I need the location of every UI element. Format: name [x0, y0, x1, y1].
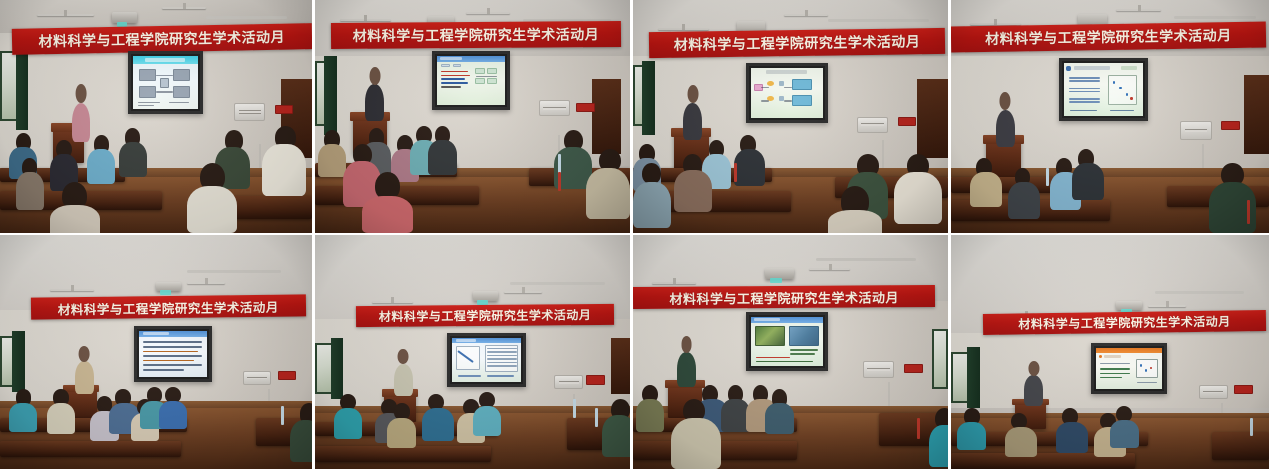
slide-content: [139, 331, 207, 377]
curtain: [12, 331, 24, 392]
audience-body: [47, 403, 75, 433]
speaker: [1024, 375, 1043, 405]
banner-text: 材料科学与工程学院研究生学术活动月: [58, 296, 279, 318]
banner-text: 材料科学与工程学院研究生学术活动月: [669, 287, 899, 308]
projector-icon: [156, 282, 181, 291]
projection-screen: [746, 312, 828, 371]
water-bottle: [1046, 168, 1049, 187]
air-conditioner: [234, 103, 265, 122]
door: [611, 338, 630, 394]
speaker: [75, 361, 94, 394]
water-bottle: [281, 406, 284, 425]
banner-text: 材料科学与工程学院研究生学术活动月: [1018, 313, 1231, 333]
air-conditioner: [243, 371, 271, 385]
projection-screen: [447, 333, 526, 387]
bench-row: [315, 446, 491, 462]
slide-content: [133, 56, 198, 109]
projection-screen: [1059, 58, 1148, 121]
exit-sign: [586, 375, 605, 384]
audience-body: [970, 172, 1002, 207]
air-conditioner: [1180, 121, 1212, 140]
audience-body: [1008, 182, 1040, 219]
exit-sign: [278, 371, 297, 380]
ceiling-pipe: [1174, 16, 1257, 19]
curtain: [324, 56, 337, 135]
curtain: [967, 347, 980, 408]
photo-8: 材料科学与工程学院研究生学术活动月: [951, 235, 1269, 469]
audience-body: [87, 149, 115, 184]
event-banner: 材料科学与工程学院研究生学术活动月: [31, 294, 306, 320]
audience-body: [586, 168, 630, 219]
water-bottle: [1247, 200, 1250, 223]
audience-body: [1072, 163, 1104, 200]
photo-6: 材料科学与工程学院研究生学术活动月: [315, 235, 633, 469]
audience-body: [387, 418, 415, 448]
ceiling-fan-icon: [187, 282, 224, 284]
exit-sign: [1221, 121, 1240, 130]
exit-sign: [898, 117, 917, 126]
ceiling-pipe: [187, 270, 281, 273]
ceiling-pipe: [828, 19, 929, 22]
audience-body: [674, 170, 712, 212]
event-banner: 材料科学与工程学院研究生学术活动月: [331, 21, 621, 49]
event-banner: 材料科学与工程学院研究生学术活动月: [633, 285, 935, 309]
ceiling-fan-icon: [809, 268, 850, 270]
photo-5: 材料科学与工程学院研究生学术活动月: [0, 235, 315, 469]
audience-body: [765, 403, 793, 433]
slide-content: [452, 338, 521, 382]
audience-body: [16, 172, 44, 209]
audience-body: [828, 210, 882, 235]
audience-body: [422, 408, 454, 441]
slide-content: [1096, 348, 1162, 389]
event-banner: 材料科学与工程学院研究生学术活动月: [356, 304, 614, 327]
water-bottle: [558, 172, 561, 191]
projection-screen: [128, 51, 203, 114]
door: [917, 79, 949, 158]
audience-body: [1056, 422, 1088, 452]
banner-text: 材料科学与工程学院研究生学术活动月: [985, 25, 1232, 49]
air-conditioner: [554, 375, 582, 389]
water-bottle: [595, 408, 598, 427]
water-bottle: [734, 163, 737, 182]
speaker: [72, 103, 91, 143]
ceiling-pipe: [206, 16, 287, 19]
projector-icon: [765, 268, 793, 280]
ceiling-fan-icon: [1116, 9, 1161, 11]
curtain: [16, 47, 28, 131]
ceiling-fan-icon: [466, 12, 510, 14]
photo-1: 材料科学与工程学院研究生学术活动月: [0, 0, 315, 235]
photo-7: 材料科学与工程学院研究生学术活动月: [633, 235, 951, 469]
air-conditioner: [1199, 385, 1228, 399]
banner-text: 材料科学与工程学院研究生学术活动月: [673, 31, 920, 54]
projection-screen: [134, 326, 212, 382]
ceiling-fan-icon: [658, 28, 708, 30]
audience-body: [428, 140, 456, 175]
audience-body: [334, 408, 362, 438]
photo-4: 材料科学与工程学院研究生学术活动月: [951, 0, 1269, 235]
speaker: [365, 84, 384, 121]
ceiling-fan-icon: [652, 282, 696, 284]
audience-body: [50, 205, 100, 235]
audience-body: [929, 425, 951, 467]
projection-screen: [1091, 343, 1167, 394]
audience-body: [9, 403, 37, 431]
exit-sign: [275, 105, 294, 114]
audience-body: [290, 420, 315, 462]
door: [1244, 75, 1269, 154]
audience-body: [633, 182, 671, 229]
projector-icon: [473, 291, 498, 300]
audience-body: [1005, 427, 1037, 457]
photo-2: 材料科学与工程学院研究生学术活动月: [315, 0, 633, 235]
speaker: [683, 103, 702, 140]
ceiling-fan-icon: [1148, 305, 1186, 307]
ceiling-fan-icon: [37, 14, 93, 16]
audience-body: [671, 418, 721, 469]
bench-row: [0, 441, 181, 457]
audience-body: [894, 172, 941, 223]
slide-content: [1064, 63, 1143, 116]
speaker: [996, 110, 1015, 147]
speaker: [677, 352, 696, 387]
window: [932, 329, 948, 390]
photo-3: 材料科学与工程学院研究生学术活动月: [633, 0, 951, 235]
air-conditioner: [539, 100, 571, 116]
ceiling-fan-icon: [340, 19, 390, 21]
audience-body: [362, 196, 412, 233]
audience-head: [642, 163, 661, 184]
ceiling-fan-icon: [784, 14, 828, 16]
audience-body: [721, 399, 749, 432]
audience-body: [119, 142, 147, 177]
water-bottle: [917, 418, 920, 439]
ceiling-fan-icon: [372, 301, 413, 303]
slide-content: [437, 56, 506, 104]
exit-sign: [1234, 385, 1253, 394]
slide-content: [751, 317, 823, 366]
projection-screen: [432, 51, 511, 109]
audience-body: [636, 399, 664, 432]
ceiling-fan-icon: [162, 7, 206, 9]
event-banner: 材料科学与工程学院研究生学术活动月: [983, 310, 1266, 335]
audience-body: [473, 406, 501, 436]
air-conditioner: [857, 117, 889, 133]
ceiling-fan-icon: [504, 291, 542, 293]
ceiling-pipe: [816, 258, 917, 261]
audience-body: [1110, 420, 1139, 448]
audience-body: [957, 422, 986, 450]
slide-content: [751, 68, 823, 119]
audience-body: [734, 149, 766, 186]
speaker: [394, 364, 413, 397]
exit-sign: [904, 364, 923, 373]
banner-text: 材料科学与工程学院研究生学术活动月: [352, 24, 599, 46]
ceiling-pipe: [510, 282, 605, 285]
banner-text: 材料科学与工程学院研究生学术活动月: [39, 26, 286, 51]
audience-body: [318, 144, 346, 177]
curtain: [331, 338, 344, 399]
exit-sign: [576, 103, 595, 112]
ceiling-pipe: [1155, 291, 1244, 294]
ceiling-fan-icon: [50, 289, 94, 291]
door: [592, 79, 620, 154]
event-banner: 材料科学与工程学院研究生学术活动月: [649, 28, 945, 58]
bench-row: [1212, 432, 1269, 460]
audience-body: [187, 186, 237, 233]
banner-text: 材料科学与工程学院研究生学术活动月: [379, 306, 592, 325]
audience-body: [262, 144, 306, 195]
water-bottle: [1250, 418, 1253, 437]
audience-body: [159, 401, 187, 429]
water-bottle: [573, 399, 576, 418]
air-conditioner: [863, 361, 895, 377]
projection-screen: [746, 63, 828, 124]
projector-icon: [1116, 301, 1141, 310]
curtain: [642, 61, 655, 136]
audience-body: [602, 415, 633, 457]
projector-icon: [112, 12, 137, 24]
photo-collage-grid: 材料科学与工程学院研究生学术活动月: [0, 0, 1269, 469]
event-banner: 材料科学与工程学院研究生学术活动月: [12, 23, 312, 54]
